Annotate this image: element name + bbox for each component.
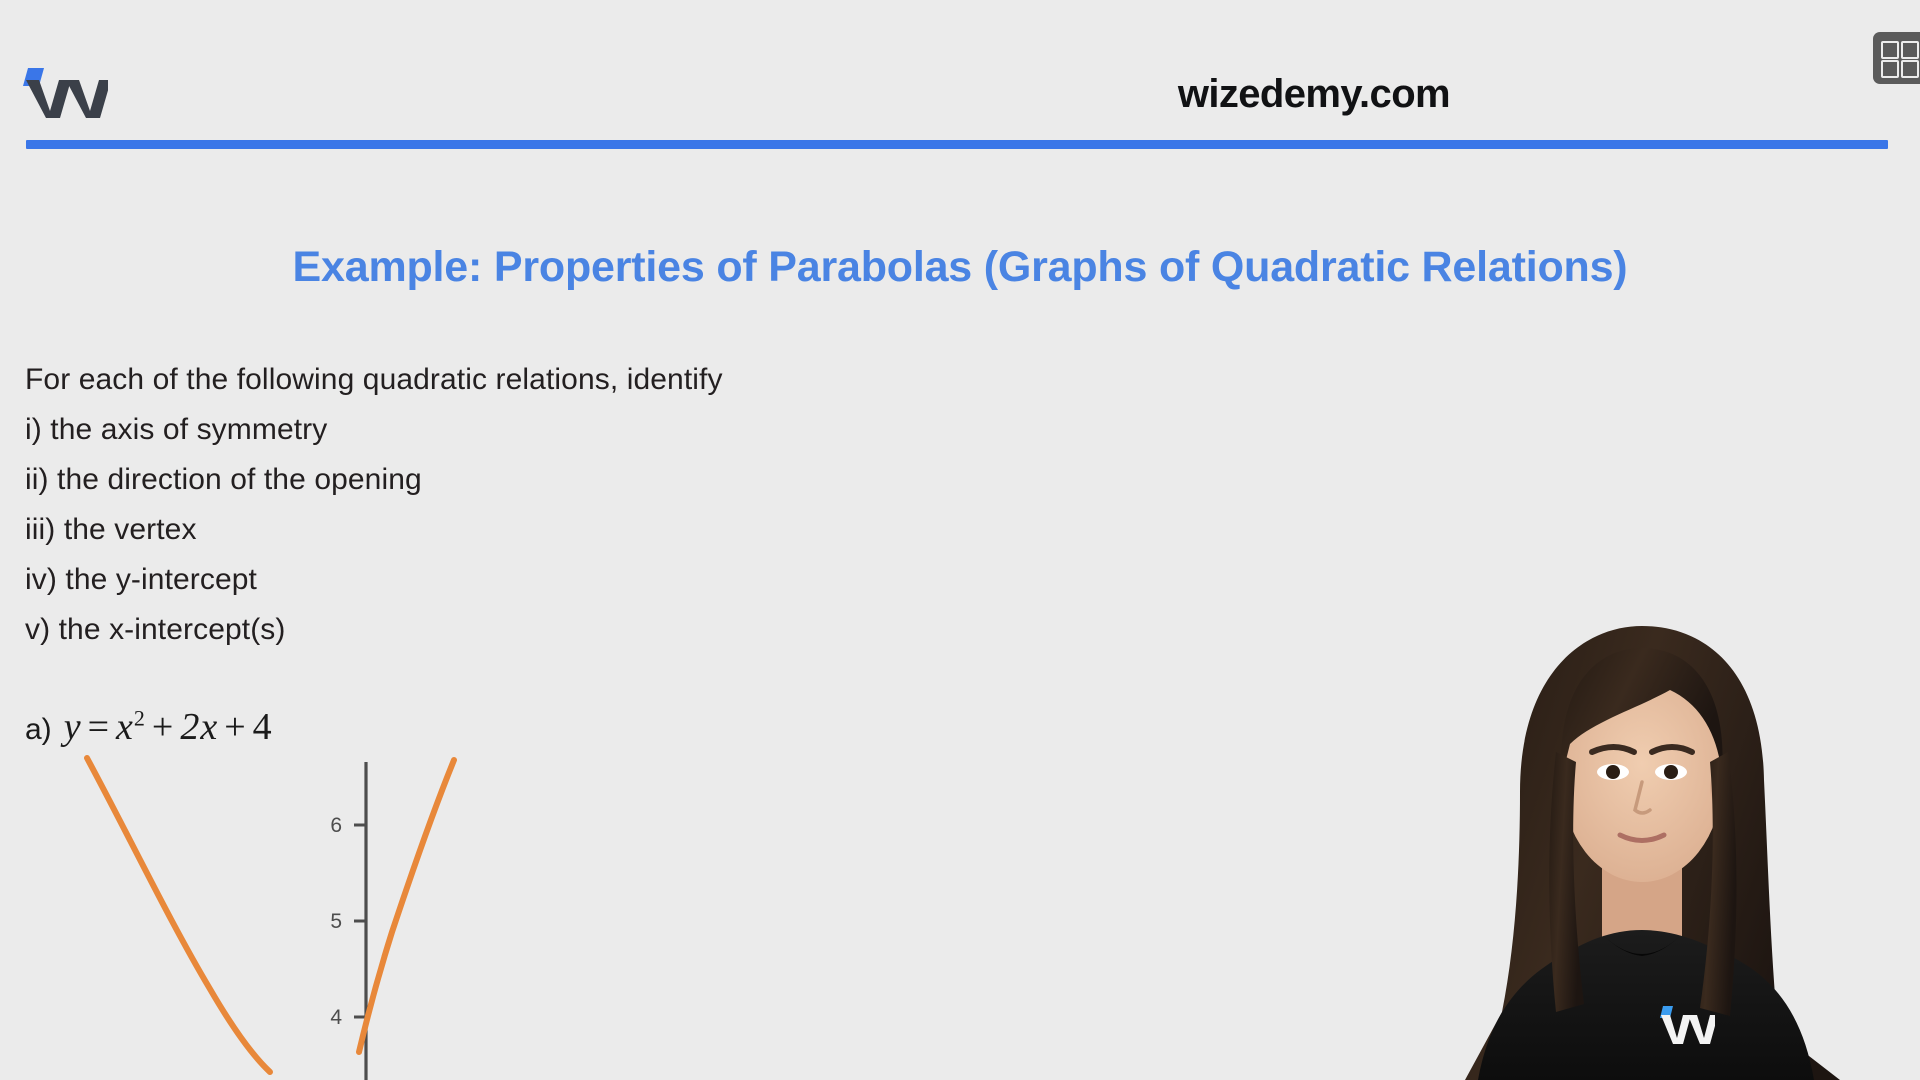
equation-plus-2: +: [218, 706, 252, 748]
y-tick-label-4: 4: [316, 1006, 342, 1030]
pupil-right: [1664, 765, 1678, 779]
pupil-left: [1606, 765, 1620, 779]
question-a: a) y=x2+2x+4: [25, 705, 273, 749]
slide-canvas: wizedemy.com Example: Properties of Para…: [0, 0, 1920, 1080]
parabola-right-branch: [359, 760, 454, 1052]
equation-expression: y=x2+2x+4: [64, 705, 273, 749]
equation-equals: =: [82, 706, 116, 748]
instruction-item-ii: ii) the direction of the opening: [25, 455, 1225, 505]
equation-lhs: y: [64, 706, 82, 748]
page-title: Example: Properties of Parabolas (Graphs…: [0, 243, 1920, 292]
brand-wordmark: wizedemy.com: [1178, 72, 1450, 117]
instructor-video: [1370, 612, 1920, 1080]
wizedemy-shirt-logo-icon: [1659, 1005, 1715, 1047]
equation-term-2: 2x: [180, 706, 218, 748]
header-divider: [26, 140, 1888, 149]
question-label: a): [25, 713, 52, 747]
equation-x: x: [116, 706, 134, 748]
instructions-block: For each of the following quadratic rela…: [25, 355, 1225, 655]
instruction-item-iv: iv) the y-intercept: [25, 555, 1225, 605]
parabola-left-branch: [87, 758, 270, 1072]
instructions-intro: For each of the following quadratic rela…: [25, 355, 1225, 405]
instruction-item-v: v) the x-intercept(s): [25, 605, 1225, 655]
parabola-graph: 6 5 4: [20, 752, 540, 1080]
equation-constant: 4: [253, 706, 273, 748]
grid-menu-icon[interactable]: [1873, 32, 1920, 84]
wizedemy-logo-icon: [22, 66, 108, 122]
grid-cell-3: [1881, 60, 1899, 78]
grid-cell-4: [1901, 60, 1919, 78]
y-tick-label-5: 5: [316, 910, 342, 934]
y-tick-label-6: 6: [316, 814, 342, 838]
equation-plus-1: +: [146, 706, 180, 748]
instruction-item-i: i) the axis of symmetry: [25, 405, 1225, 455]
equation-exponent: 2: [134, 705, 146, 730]
grid-cell-1: [1881, 41, 1899, 59]
instruction-item-iii: iii) the vertex: [25, 505, 1225, 555]
grid-cell-2: [1901, 41, 1919, 59]
slide-header: wizedemy.com: [0, 0, 1920, 150]
